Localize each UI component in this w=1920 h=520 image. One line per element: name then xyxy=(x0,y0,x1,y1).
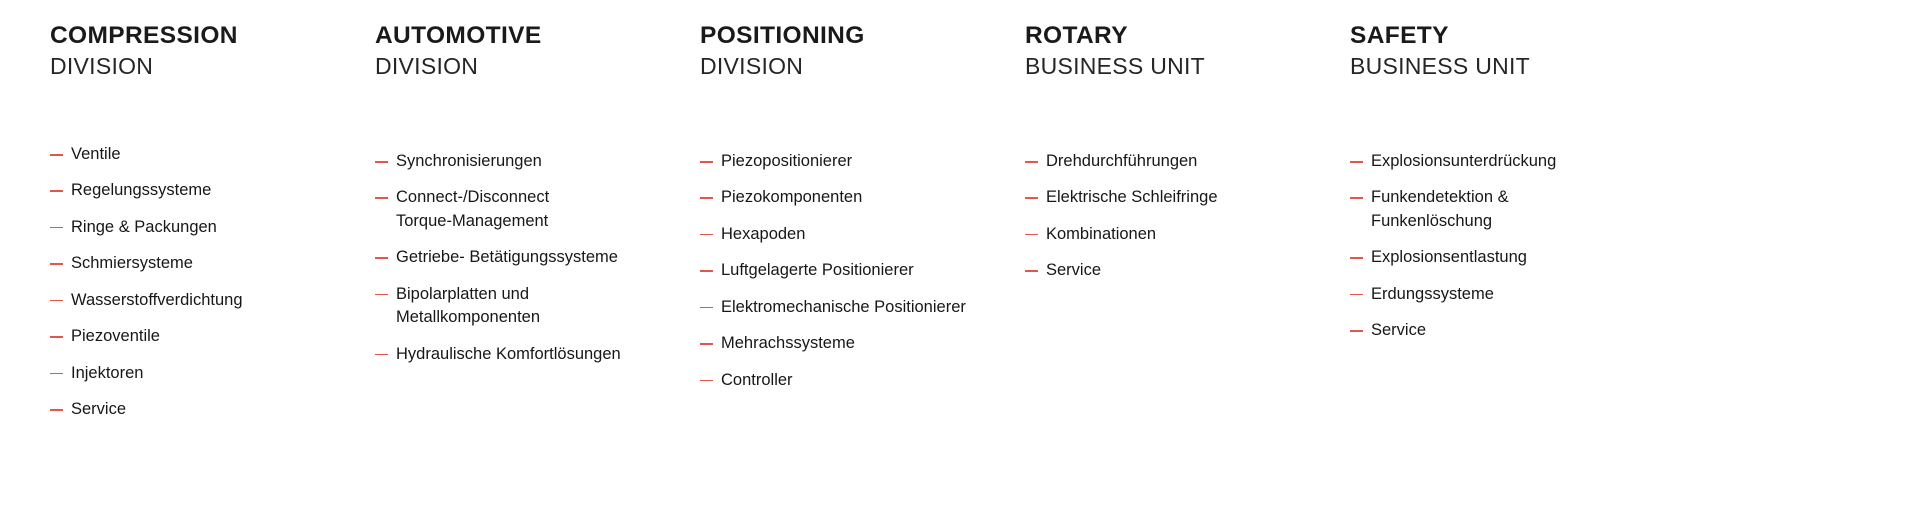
list-item[interactable]: Bipolarplatten und Metallkomponenten xyxy=(375,283,682,330)
list-item-label: Explosionsunterdrückung xyxy=(1371,150,1662,173)
list-item-label: Piezokomponenten xyxy=(721,186,1007,209)
product-list: Ventile Regelungssysteme Ringe & Packung… xyxy=(50,143,357,421)
column-subtitle: BUSINESS UNIT xyxy=(1025,53,1332,81)
list-item[interactable]: Service xyxy=(50,398,357,421)
list-item[interactable]: Ringe & Packungen xyxy=(50,216,357,239)
list-item[interactable]: Explosionsentlastung xyxy=(1350,246,1662,269)
list-item[interactable]: Controller xyxy=(700,369,1007,392)
list-item-label: Connect-/Disconnect Torque-Management xyxy=(396,186,682,233)
dash-icon xyxy=(1350,257,1363,259)
column-subtitle: DIVISION xyxy=(700,53,1007,81)
list-item[interactable]: Synchronisierungen xyxy=(375,150,682,173)
dash-icon xyxy=(375,197,388,199)
list-item-label: Bipolarplatten und Metallkomponenten xyxy=(396,283,682,330)
list-item-label: Piezoventile xyxy=(71,325,357,348)
list-item[interactable]: Kombinationen xyxy=(1025,223,1332,246)
dash-icon xyxy=(1025,197,1038,199)
dash-icon xyxy=(1025,270,1038,272)
list-item-label: Erdungssysteme xyxy=(1371,283,1662,306)
list-item-label: Elektromechanische Positionierer xyxy=(721,296,1007,319)
column-header: POSITIONING DIVISION xyxy=(700,22,1007,81)
column-title: POSITIONING xyxy=(700,22,1007,49)
column-subtitle: DIVISION xyxy=(375,53,682,81)
list-item-label: Injektoren xyxy=(71,362,357,385)
column-header: AUTOMOTIVE DIVISION xyxy=(375,22,682,81)
dash-icon xyxy=(375,257,388,259)
list-item[interactable]: Wasserstoffverdichtung xyxy=(50,289,357,312)
list-item[interactable]: Service xyxy=(1025,259,1332,282)
list-item[interactable]: Hexapoden xyxy=(700,223,1007,246)
dash-icon xyxy=(50,409,63,411)
dash-icon xyxy=(50,227,63,229)
list-item[interactable]: Piezoventile xyxy=(50,325,357,348)
list-item[interactable]: Elektromechanische Positionierer xyxy=(700,296,1007,319)
column-subtitle: DIVISION xyxy=(50,53,357,81)
list-item[interactable]: Erdungssysteme xyxy=(1350,283,1662,306)
list-item[interactable]: Piezopositionierer xyxy=(700,150,1007,173)
list-item-label: Hydraulische Komfortlösungen xyxy=(396,343,682,366)
column-title: COMPRESSION xyxy=(50,22,357,49)
dash-icon xyxy=(700,270,713,272)
list-item-label: Regelungssysteme xyxy=(71,179,357,202)
column-title: AUTOMOTIVE xyxy=(375,22,682,49)
list-item-label: Kombinationen xyxy=(1046,223,1332,246)
product-list: Explosionsunterdrückung Funkendetektion … xyxy=(1350,150,1662,343)
dash-icon xyxy=(1025,234,1038,236)
list-item-label: Drehdurchführungen xyxy=(1046,150,1332,173)
list-item-label: Synchronisierungen xyxy=(396,150,682,173)
list-item-label: Service xyxy=(1371,319,1662,342)
list-item-label: Ventile xyxy=(71,143,357,166)
list-item[interactable]: Drehdurchführungen xyxy=(1025,150,1332,173)
dash-icon xyxy=(1350,197,1363,199)
dash-icon xyxy=(50,373,63,375)
list-item-label: Service xyxy=(1046,259,1332,282)
list-item-label: Elektrische Schleifringe xyxy=(1046,186,1332,209)
list-item[interactable]: Funkendetektion & Funkenlöschung xyxy=(1350,186,1662,233)
list-item-label: Getriebe- Betätigungssysteme xyxy=(396,246,682,269)
dash-icon xyxy=(50,336,63,338)
dash-icon xyxy=(700,307,713,309)
business-unit-column-safety: SAFETY BUSINESS UNIT Explosionsunterdrüc… xyxy=(1350,22,1680,343)
column-header: COMPRESSION DIVISION xyxy=(50,22,357,81)
list-item[interactable]: Getriebe- Betätigungssysteme xyxy=(375,246,682,269)
division-column-positioning: POSITIONING DIVISION Piezopositionierer … xyxy=(700,22,1025,392)
list-item[interactable]: Regelungssysteme xyxy=(50,179,357,202)
list-item-label: Mehrachssysteme xyxy=(721,332,1007,355)
list-item[interactable]: Luftgelagerte Positionierer xyxy=(700,259,1007,282)
dash-icon xyxy=(375,161,388,163)
dash-icon xyxy=(50,154,63,156)
dash-icon xyxy=(1350,330,1363,332)
list-item[interactable]: Service xyxy=(1350,319,1662,342)
column-header: SAFETY BUSINESS UNIT xyxy=(1350,22,1662,81)
dash-icon xyxy=(1350,294,1363,296)
dash-icon xyxy=(50,300,63,302)
dash-icon xyxy=(700,380,713,382)
list-item[interactable]: Schmiersysteme xyxy=(50,252,357,275)
divisions-overview: COMPRESSION DIVISION Ventile Regelungssy… xyxy=(0,0,1920,520)
list-item[interactable]: Elektrische Schleifringe xyxy=(1025,186,1332,209)
list-item-label: Service xyxy=(71,398,357,421)
division-column-automotive: AUTOMOTIVE DIVISION Synchronisierungen C… xyxy=(375,22,700,366)
list-item[interactable]: Connect-/Disconnect Torque-Management xyxy=(375,186,682,233)
dash-icon xyxy=(700,234,713,236)
list-item[interactable]: Explosionsunterdrückung xyxy=(1350,150,1662,173)
dash-icon xyxy=(1350,161,1363,163)
list-item-label: Schmiersysteme xyxy=(71,252,357,275)
product-list: Synchronisierungen Connect-/Disconnect T… xyxy=(375,150,682,366)
list-item-label: Hexapoden xyxy=(721,223,1007,246)
list-item-label: Piezopositionierer xyxy=(721,150,1007,173)
dash-icon xyxy=(375,294,388,296)
dash-icon xyxy=(700,197,713,199)
dash-icon xyxy=(700,161,713,163)
list-item[interactable]: Ventile xyxy=(50,143,357,166)
list-item[interactable]: Injektoren xyxy=(50,362,357,385)
column-title: ROTARY xyxy=(1025,22,1332,49)
dash-icon xyxy=(50,190,63,192)
list-item-label: Luftgelagerte Positionierer xyxy=(721,259,1007,282)
product-list: Piezopositionierer Piezokomponenten Hexa… xyxy=(700,150,1007,392)
division-column-compression: COMPRESSION DIVISION Ventile Regelungssy… xyxy=(50,22,375,421)
list-item-label: Ringe & Packungen xyxy=(71,216,357,239)
list-item[interactable]: Mehrachssysteme xyxy=(700,332,1007,355)
list-item-label: Controller xyxy=(721,369,1007,392)
list-item-label: Wasserstoffverdichtung xyxy=(71,289,357,312)
dash-icon xyxy=(50,263,63,265)
list-item-label: Funkendetektion & Funkenlöschung xyxy=(1371,186,1662,233)
list-item[interactable]: Hydraulische Komfortlösungen xyxy=(375,343,682,366)
dash-icon xyxy=(700,343,713,345)
column-title: SAFETY xyxy=(1350,22,1662,49)
list-item[interactable]: Piezokomponenten xyxy=(700,186,1007,209)
business-unit-column-rotary: ROTARY BUSINESS UNIT Drehdurchführungen … xyxy=(1025,22,1350,283)
column-header: ROTARY BUSINESS UNIT xyxy=(1025,22,1332,81)
column-subtitle: BUSINESS UNIT xyxy=(1350,53,1662,81)
product-list: Drehdurchführungen Elektrische Schleifri… xyxy=(1025,150,1332,283)
dash-icon xyxy=(1025,161,1038,163)
dash-icon xyxy=(375,354,388,356)
list-item-label: Explosionsentlastung xyxy=(1371,246,1662,269)
